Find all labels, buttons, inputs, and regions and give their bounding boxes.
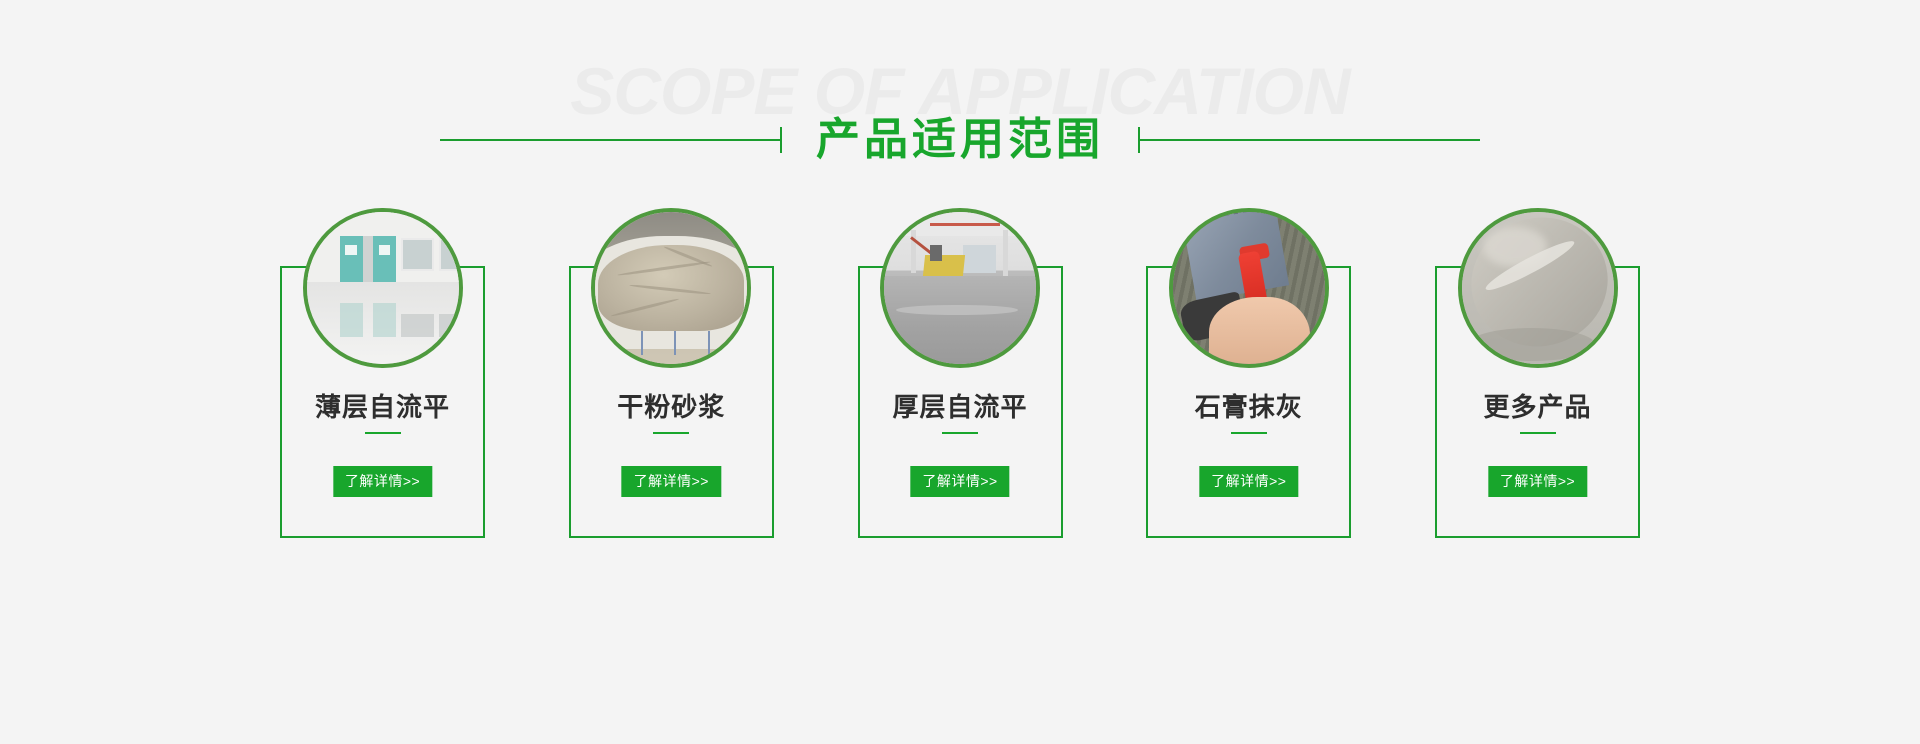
product-card[interactable]: 干粉砂浆 了解详情>> bbox=[569, 208, 774, 538]
product-card[interactable]: 厚层自流平 了解详情>> bbox=[858, 208, 1063, 538]
right-rule-group bbox=[1138, 127, 1480, 153]
application-scope-section: SCOPE OF APPLICATION 产品适用范围 bbox=[0, 0, 1920, 744]
card-title: 厚层自流平 bbox=[858, 394, 1063, 420]
thick-layer-self-leveling-floor-photo bbox=[880, 208, 1040, 368]
more-products-slab-photo bbox=[1458, 208, 1618, 368]
learn-more-button[interactable]: 了解详情>> bbox=[910, 466, 1009, 497]
card-title: 干粉砂浆 bbox=[569, 394, 774, 420]
card-title-underline bbox=[1231, 432, 1267, 434]
product-card[interactable]: 薄层自流平 了解详情>> bbox=[280, 208, 485, 538]
learn-more-button[interactable]: 了解详情>> bbox=[1488, 466, 1587, 497]
left-rule-group bbox=[440, 127, 782, 153]
right-rule-line bbox=[1140, 139, 1480, 141]
page-title: 产品适用范围 bbox=[782, 118, 1138, 162]
card-title: 更多产品 bbox=[1435, 394, 1640, 420]
thin-layer-self-leveling-floor-photo bbox=[303, 208, 463, 368]
dry-powder-mortar-photo bbox=[591, 208, 751, 368]
learn-more-button[interactable]: 了解详情>> bbox=[622, 466, 721, 497]
left-rule-line bbox=[440, 139, 780, 141]
card-title-underline bbox=[942, 432, 978, 434]
learn-more-button[interactable]: 了解详情>> bbox=[333, 466, 432, 497]
card-title: 薄层自流平 bbox=[280, 394, 485, 420]
title-row: 产品适用范围 bbox=[0, 104, 1920, 176]
card-title: 石膏抹灰 bbox=[1146, 394, 1351, 420]
product-card-list: 薄层自流平 了解详情>> 干粉砂 bbox=[280, 208, 1640, 538]
learn-more-button[interactable]: 了解详情>> bbox=[1199, 466, 1298, 497]
gypsum-plastering-trowel-photo bbox=[1169, 208, 1329, 368]
product-card[interactable]: 石膏抹灰 了解详情>> bbox=[1146, 208, 1351, 538]
card-title-underline bbox=[653, 432, 689, 434]
product-card[interactable]: 更多产品 了解详情>> bbox=[1435, 208, 1640, 538]
card-title-underline bbox=[365, 432, 401, 434]
card-title-underline bbox=[1520, 432, 1556, 434]
section-header: SCOPE OF APPLICATION 产品适用范围 bbox=[0, 0, 1920, 200]
